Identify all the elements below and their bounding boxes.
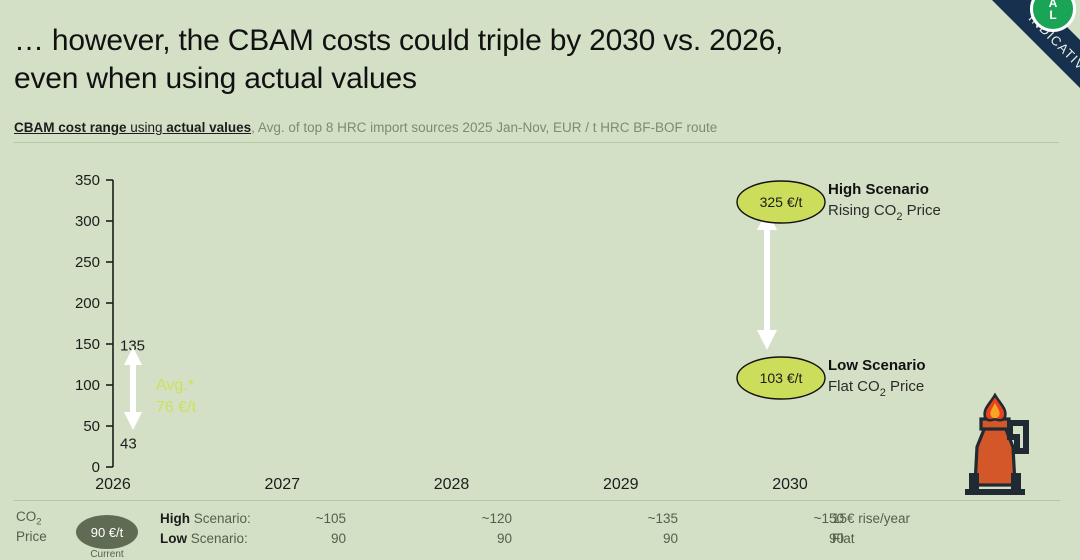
blast-furnace-icon (965, 395, 1026, 495)
y-tick-350: 350 (75, 172, 100, 189)
avg-range-arrow (124, 347, 142, 430)
cbam-cost-range-chart: 050100150200250300350 135 43 Avg.* 76 €/… (0, 150, 1080, 495)
x-tick-2027: 2027 (264, 476, 300, 493)
slide-canvas: INDICATIVE A L … however, the CBAM costs… (0, 0, 1080, 560)
headline-line-2: even when using actual values (14, 60, 944, 98)
subtitle-bold-1: CBAM cost range (14, 120, 127, 135)
x-tick-2029: 2029 (603, 476, 639, 493)
headline-line-1: … however, the CBAM costs could triple b… (14, 22, 944, 60)
chart-subtitle: CBAM cost range using actual values, Avg… (14, 120, 1059, 143)
y-tick-200: 200 (75, 295, 100, 312)
logo-line-2: L (1049, 9, 1056, 21)
co2-header-line-1: CO2 (16, 509, 42, 524)
x-tick-2026: 2026 (95, 476, 131, 493)
y-tick-100: 100 (75, 377, 100, 394)
y-tick-0: 0 (92, 459, 100, 476)
table-note-low: Flat (832, 531, 855, 546)
subtitle-bold-2: actual values (166, 120, 251, 135)
avg-label-line-2: 76 €/t (156, 399, 197, 416)
co2-price-table: CO2 Price 90 €/t Current High Scenario: … (14, 500, 1060, 559)
table-cell-high-2026: ~105 (276, 511, 346, 526)
subtitle-rest: , Avg. of top 8 HRC import sources 2025 … (251, 120, 717, 135)
x-axis: 20262027202820292030 (95, 476, 808, 493)
avg-label-line-1: Avg.* (156, 377, 194, 394)
table-cell-high-2027: ~120 (442, 511, 512, 526)
high-scenario-bubble: 325 €/t (737, 181, 825, 223)
table-cell-low-2027: 90 (442, 531, 512, 546)
current-caption: Current (76, 549, 138, 560)
y-tick-150: 150 (75, 336, 100, 353)
company-logo: A L (1030, 0, 1076, 32)
high-scenario-subtitle: Rising CO2 Price (828, 202, 941, 223)
subtitle-mid: using (127, 120, 167, 135)
low-bubble-value: 103 €/t (760, 370, 803, 386)
y-tick-labels: 050100150200250300350 (75, 172, 100, 476)
table-note-high: 15€ rise/year (832, 511, 910, 526)
current-co2-price-bubble: 90 €/t (76, 515, 138, 549)
chart-svg: 050100150200250300350 135 43 Avg.* 76 €/… (0, 150, 1080, 495)
co2-price-row-header: CO2 Price (16, 509, 47, 545)
co2-header-line-2: Price (16, 529, 47, 544)
high-bubble-value: 325 €/t (760, 194, 803, 210)
y-tick-300: 300 (75, 213, 100, 230)
table-cell-low-2028: 90 (608, 531, 678, 546)
low-scenario-subtitle: Flat CO2 Price (828, 378, 924, 399)
y-tick-marks (106, 180, 113, 467)
current-co2-price-value: 90 €/t (91, 525, 124, 540)
x-tick-2030: 2030 (772, 476, 808, 493)
low-scenario-legend: Low Scenario Flat CO2 Price (828, 357, 926, 399)
x-tick-2028: 2028 (434, 476, 470, 493)
y-axis: 050100150200250300350 (75, 172, 113, 476)
high-scenario-legend: High Scenario Rising CO2 Price (828, 181, 941, 223)
y-tick-250: 250 (75, 254, 100, 271)
table-cell-high-2028: ~135 (608, 511, 678, 526)
high-scenario-title: High Scenario (828, 181, 929, 198)
low-scenario-bubble: 103 €/t (737, 357, 825, 399)
y-tick-50: 50 (83, 418, 100, 435)
table-row-low-label: Low Scenario: (160, 531, 248, 546)
spread-2030-arrow (757, 210, 777, 350)
table-cell-low-2026: 90 (276, 531, 346, 546)
table-row-high-label: High Scenario: (160, 511, 251, 526)
endpoint-label-low-2026: 43 (120, 436, 137, 453)
page-title: … however, the CBAM costs could triple b… (14, 22, 944, 99)
low-scenario-title: Low Scenario (828, 357, 926, 374)
x-tick-labels: 20262027202820292030 (95, 476, 808, 493)
